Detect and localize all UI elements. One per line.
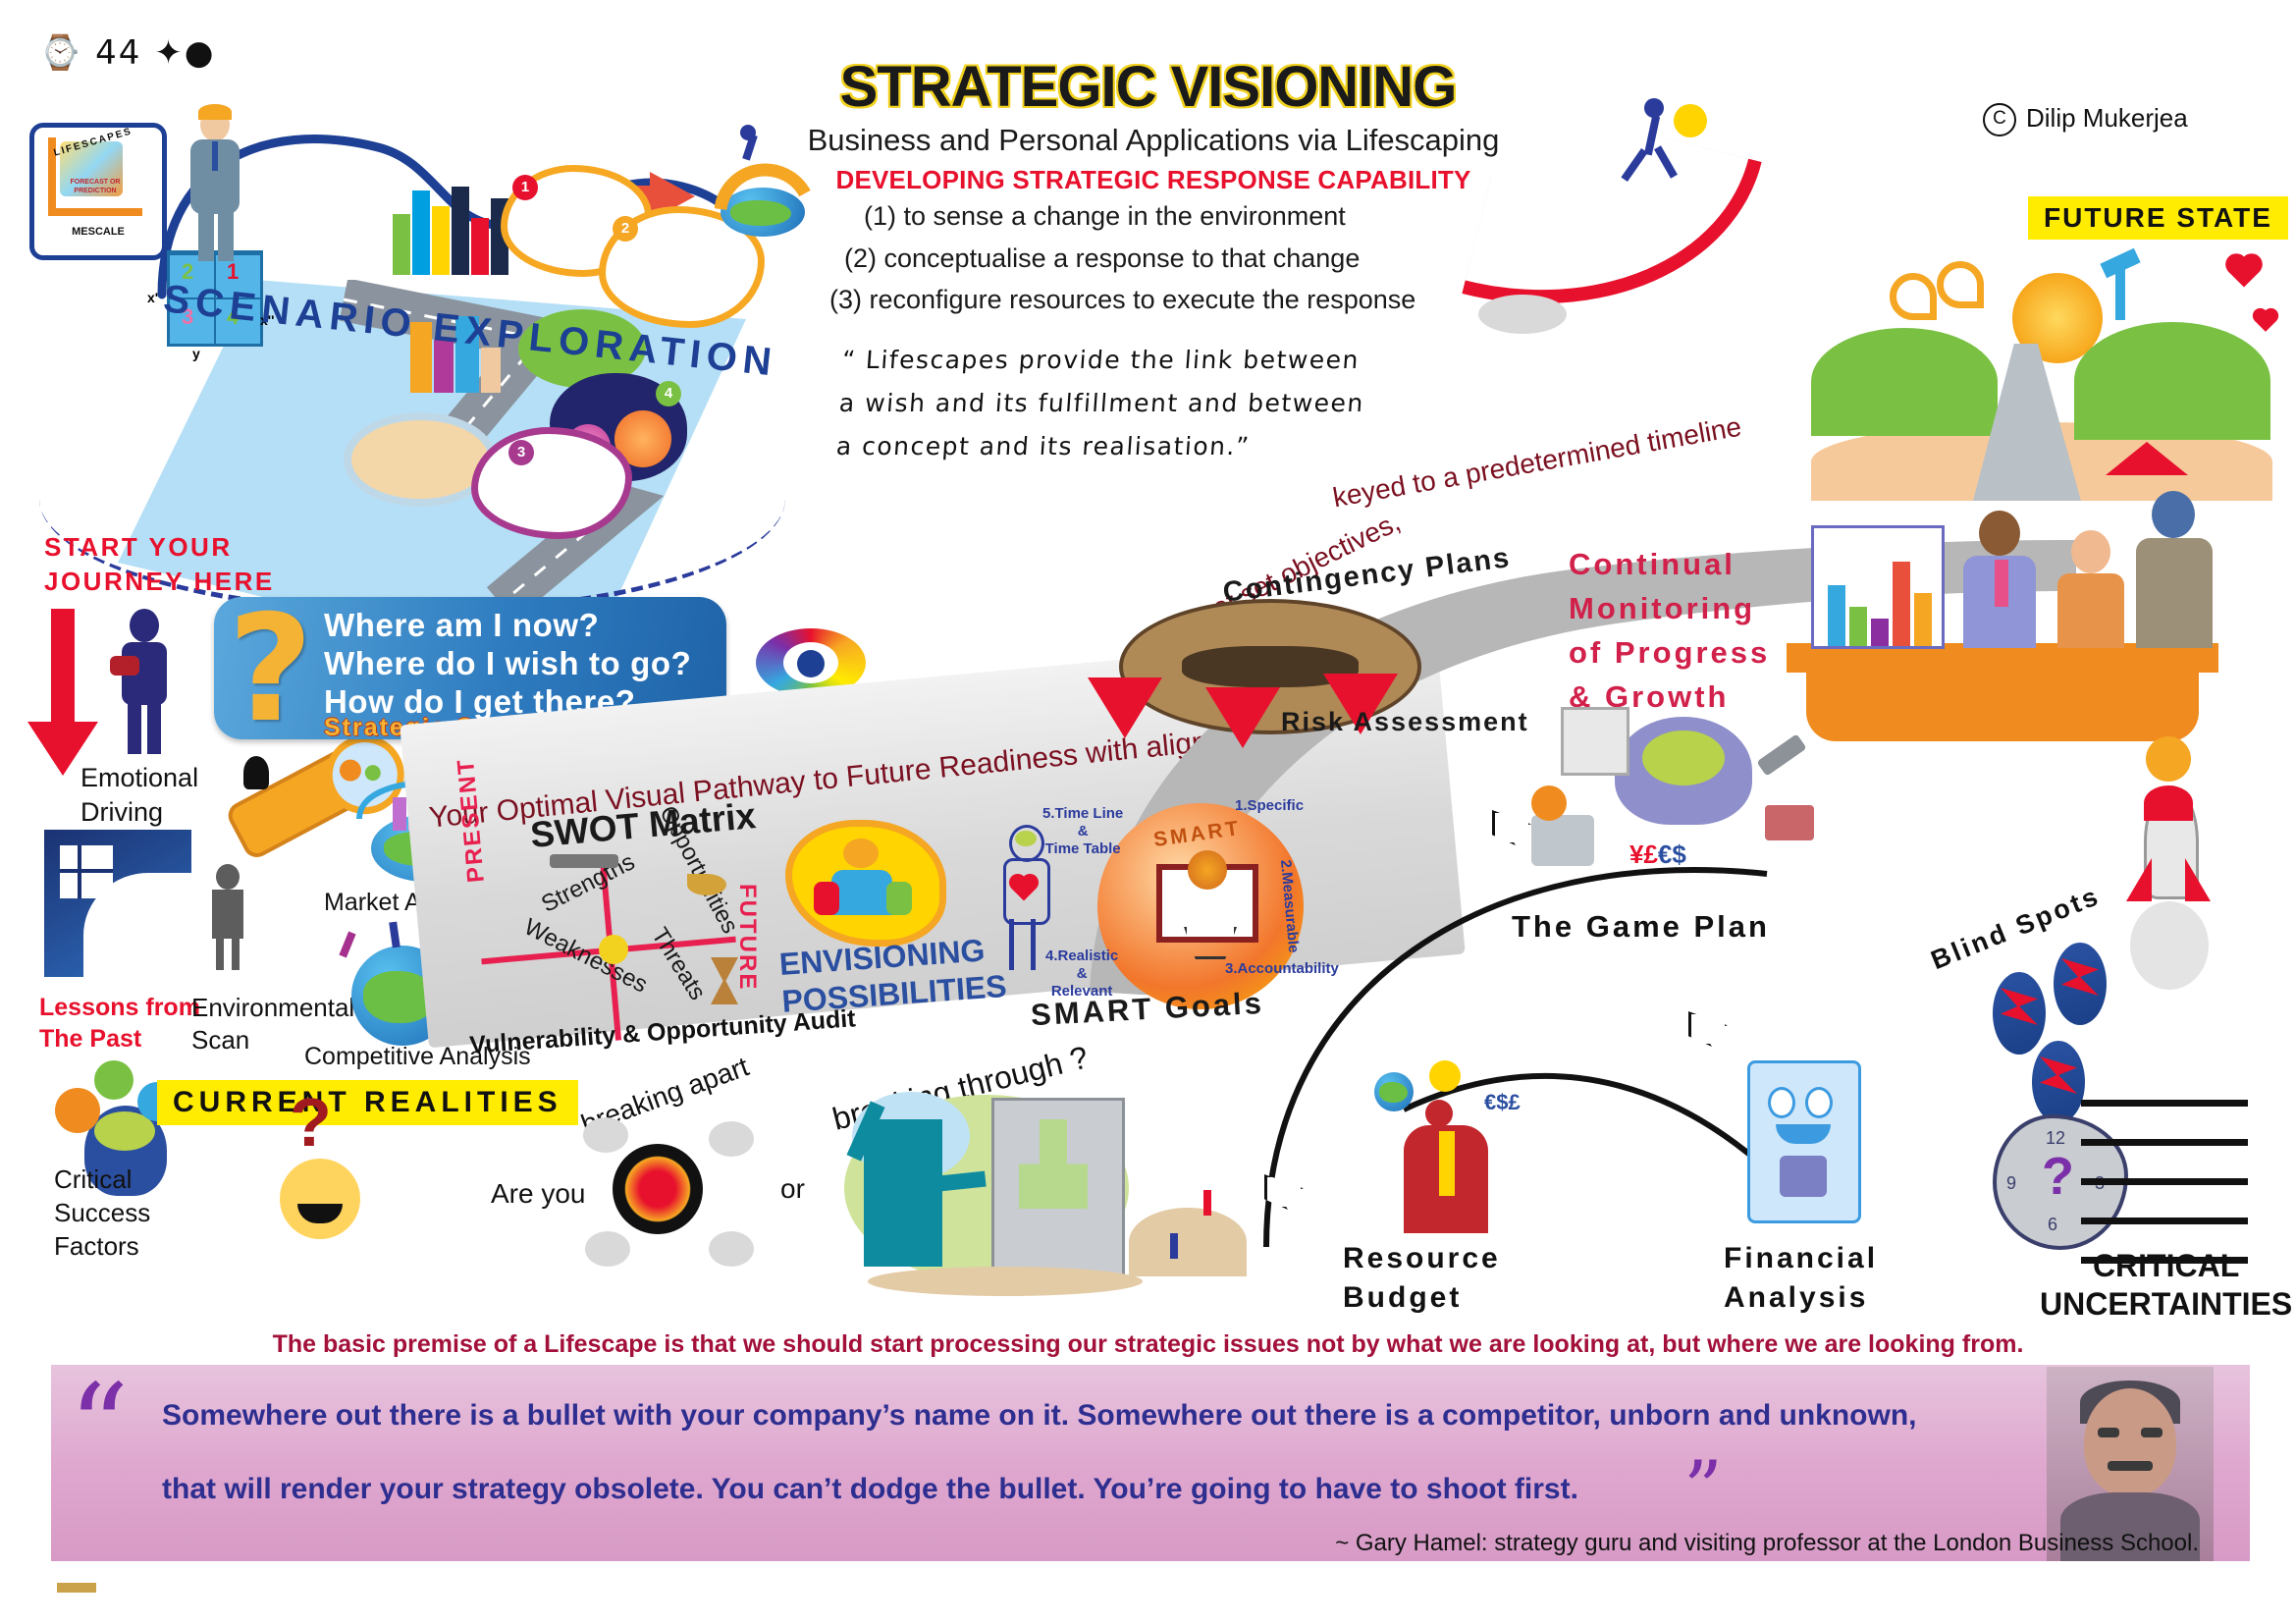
thought-number-1: 1: [512, 175, 538, 200]
person-heart-brain-icon: [993, 825, 1052, 972]
red-down-arrow-icon: [51, 609, 75, 727]
capability-bullet-3: (3) reconfigure resources to execute the…: [829, 285, 1415, 315]
current-realities-badge: CURRENT REALITIES: [157, 1080, 578, 1125]
runner-red-icon: [1203, 1190, 1211, 1216]
uncertainty-line-1: [2081, 1100, 2248, 1107]
lifescape-premise-text: The basic premise of a Lifescape is that…: [0, 1330, 2296, 1359]
smart-item-4: 4.Realistic&Relevant: [1045, 947, 1118, 1001]
page-subtitle: Business and Personal Applications via L…: [780, 123, 1526, 158]
strategic-question-2: Where do I wish to go?: [324, 645, 691, 683]
smoke-puff-4-icon: [709, 1231, 754, 1267]
author-name: Dilip Mukerjea: [2026, 103, 2188, 133]
blind-spot-2-icon: [2054, 943, 2107, 1025]
rock-icon: [1478, 295, 1567, 334]
colleague-2-icon: [2130, 491, 2218, 648]
uncertainty-line-2: [2081, 1139, 2248, 1146]
close-quote-icon: ”: [1683, 1460, 1723, 1519]
dumbbell-icon: [550, 854, 618, 868]
rocket-icon: [2110, 785, 2228, 1001]
red-question-icon: ?: [290, 1088, 332, 1157]
smoke-puff-2-icon: [709, 1121, 754, 1157]
mescale-logo: LIFESCAPES FORECAST OR PREDICTION MESCAL…: [29, 123, 167, 260]
are-you-label: Are you: [491, 1178, 586, 1210]
cube-axis-y: y: [192, 346, 200, 361]
mescale-logo-caption: MESCALE: [34, 226, 162, 238]
page-title: STRATEGIC VISIONING: [0, 54, 2296, 120]
document-icon: [1561, 707, 1629, 776]
meeting-table-front-icon: [1806, 673, 2199, 741]
path-ground-icon: [1129, 1208, 1247, 1276]
blind-spot-1-icon: [1993, 972, 2046, 1055]
author-credit: CDilip Mukerjea: [1983, 103, 2188, 136]
uncertainty-line-4: [2081, 1218, 2248, 1224]
financial-analysis-icon: [1747, 1060, 1861, 1223]
presenter-person-icon: [1953, 511, 2042, 648]
past-building-icon: [44, 830, 191, 977]
quote-line-2: that will render your strategy obsolete.…: [162, 1473, 1949, 1506]
leaping-person-icon: [1615, 98, 1703, 187]
open-quote-icon: “: [69, 1380, 129, 1478]
magic-lamp-icon: [687, 874, 726, 895]
infographic-page: ⌚ 44 ✦● LIFESCAPES FORECAST OR PREDICTIO…: [0, 0, 2296, 1624]
risk-flag-2-icon: [1205, 687, 1280, 748]
capability-bullet-1: (1) to sense a change in the environment: [864, 201, 1346, 232]
keyhole-icon: [243, 756, 269, 789]
copyright-icon: C: [1983, 103, 2016, 136]
smoke-puff-1-icon: [583, 1117, 628, 1153]
capability-bullet-2: (2) conceptualise a response to that cha…: [844, 244, 1360, 274]
explosion-icon: [613, 1144, 703, 1234]
blind-spot-3-icon: [2032, 1041, 2085, 1123]
smoke-puff-3-icon: [585, 1231, 630, 1267]
quote-attribution: ~ Gary Hamel: strategy guru and visiting…: [0, 1530, 2268, 1557]
city-cluster-icon: [393, 187, 510, 275]
runner-blue-icon: [1170, 1233, 1178, 1259]
strategic-question-1: Where am I now?: [324, 607, 691, 645]
mescale-logo-inner: FORECAST OR PREDICTION: [56, 179, 134, 196]
smiley-face-icon: [280, 1159, 360, 1239]
resource-budget-icon: €$£: [1374, 1060, 1531, 1237]
cube-axis-x1: x': [147, 290, 158, 305]
runner-over-globe-icon: [707, 133, 815, 241]
lifescapes-handwritten-quote: “ Lifescapes provide the link between a …: [834, 339, 1373, 467]
lessons-from-past-label: Lessons fromThe Past: [39, 992, 200, 1055]
critical-uncertainties-label: CRITICALUNCERTAINTIES: [2040, 1247, 2292, 1324]
bottom-marker: [57, 1583, 96, 1593]
breakthrough-person-icon: [864, 1119, 942, 1267]
thought-number-2: 2: [613, 216, 638, 242]
financial-analysis-label: FinancialAnalysis: [1724, 1239, 1878, 1317]
businessman-figure-icon: [177, 108, 251, 265]
bar-chart-easel-icon: [1811, 525, 1945, 649]
question-mark-icon: ?: [228, 601, 313, 738]
swot-future-label: FUTURE: [733, 884, 761, 991]
resource-budget-label: ResourceBudget: [1343, 1239, 1501, 1317]
wilting-flower-icon: [599, 935, 628, 964]
explorer-person-icon: [108, 609, 177, 756]
breakthrough-ground-icon: [868, 1267, 1143, 1296]
risk-flag-1-icon: [1088, 677, 1162, 738]
future-state-badge: FUTURE STATE: [2028, 196, 2288, 240]
uncertainty-line-3: [2081, 1178, 2248, 1185]
envisioning-possibilities-label: ENVISIONING POSSIBILITIES: [778, 930, 1008, 1021]
basketball-hoop-icon: [1156, 864, 1258, 943]
colleague-1-icon: [2052, 530, 2130, 648]
page-title-text: STRATEGIC VISIONING: [840, 55, 1457, 119]
developing-capability-line: DEVELOPING STRATEGIC RESPONSE CAPABILITY: [780, 165, 1526, 195]
risk-assessment-label: Risk Assessment: [1281, 707, 1529, 737]
telescope-person-icon: [208, 864, 247, 972]
or-connector-label: or: [780, 1173, 805, 1205]
continual-monitoring-label: ContinualMonitoringof Progress& Growth: [1569, 543, 1770, 720]
quote-line-1: Somewhere out there is a bullet with you…: [162, 1399, 2076, 1433]
critical-success-factors-label: CriticalSuccessFactors: [54, 1164, 150, 1263]
smart-item-5: 5.Time Line&Time Table: [1042, 805, 1123, 858]
